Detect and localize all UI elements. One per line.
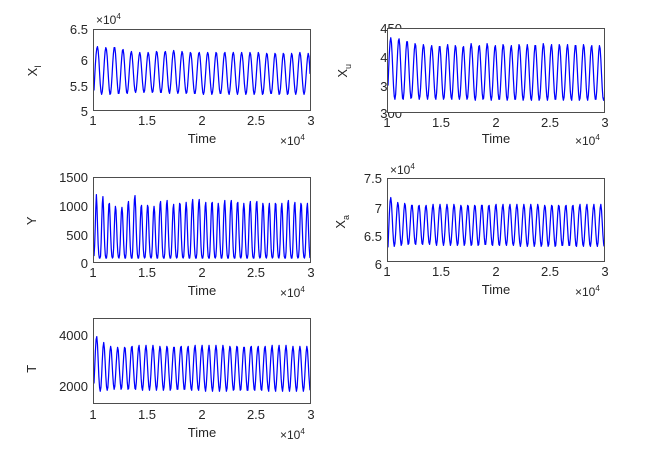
x-exponent-label-1: ×104 <box>280 133 305 148</box>
y-axis-label-subscript: a <box>341 215 351 220</box>
x-tick-label: 1.5 <box>427 115 455 130</box>
y-axis-label-main: X <box>333 220 348 229</box>
y-tick-label: 6 <box>48 53 88 68</box>
x-tick-label: 2 <box>482 264 510 279</box>
x-axis-label: Time <box>446 282 546 297</box>
x-tick-label: 1.5 <box>133 113 161 128</box>
x-axis-label: Time <box>152 131 252 146</box>
x-tick-label: 2 <box>482 115 510 130</box>
x-tick-label: 3 <box>297 407 325 422</box>
subplot-t: 4000 2000 T 1 1.5 2 2.5 3 Time ×104 <box>0 304 330 452</box>
x-exponent-label-3: ×104 <box>280 285 305 300</box>
x-tick-label: 3 <box>591 264 619 279</box>
subplot-x-u: 450 400 350 300 Xu 1 1.5 2 2.5 3 Time ×1… <box>330 0 656 152</box>
subplot-y: 1500 1000 500 0 Y 1 1.5 2 2.5 3 Time ×10… <box>0 152 330 304</box>
x-tick-label: 3 <box>297 265 325 280</box>
x-tick-label: 2.5 <box>536 264 564 279</box>
y-tick-label: 5.5 <box>48 79 88 94</box>
y-axis-label-subscript: I <box>33 65 43 68</box>
series-line-x-a <box>388 179 604 261</box>
x-axis-label: Time <box>152 425 252 440</box>
x-tick-label: 1 <box>79 407 107 422</box>
x-tick-label: 2 <box>188 407 216 422</box>
series-line-y <box>94 178 310 262</box>
x-exponent-label-2: ×104 <box>575 133 600 148</box>
x-tick-label: 3 <box>297 113 325 128</box>
x-tick-label: 2.5 <box>242 265 270 280</box>
x-tick-label: 1 <box>373 115 401 130</box>
y-axis-label-main: T <box>24 365 39 373</box>
x-exponent-label-5: ×104 <box>280 427 305 442</box>
y-tick-label: 4000 <box>32 328 88 343</box>
subplot-x-i: ×104 6.5 6 5.5 5 XI 1 1.5 2 2.5 3 Time ×… <box>0 0 330 152</box>
y-axis-label-x-u: Xu <box>335 51 353 91</box>
x-tick-label: 2 <box>188 113 216 128</box>
x-tick-label: 1 <box>79 113 107 128</box>
plot-area-y <box>93 177 311 263</box>
series-line-t <box>94 319 310 403</box>
x-tick-label: 1.5 <box>133 265 161 280</box>
x-tick-label: 3 <box>591 115 619 130</box>
y-axis-label-main: Y <box>24 216 39 225</box>
y-exponent-label-1: ×104 <box>96 12 121 27</box>
x-tick-label: 2.5 <box>242 113 270 128</box>
series-line-x-i <box>94 30 310 110</box>
subplot-x-a: ×104 7.5 7 6.5 6 Xa 1 1.5 2 2.5 3 Time ×… <box>330 152 656 304</box>
y-exponent-label-4: ×104 <box>390 162 415 177</box>
y-axis-label-x-i: XI <box>25 51 43 91</box>
x-tick-label: 2 <box>188 265 216 280</box>
series-line-x-u <box>388 29 604 112</box>
y-tick-label: 1500 <box>32 170 88 185</box>
plot-area-t <box>93 318 311 404</box>
plot-area-x-a <box>387 178 605 262</box>
x-tick-label: 2.5 <box>242 407 270 422</box>
y-tick-label: 7.5 <box>342 171 382 186</box>
matlab-figure: ×104 6.5 6 5.5 5 XI 1 1.5 2 2.5 3 Time ×… <box>0 0 656 452</box>
y-axis-label-main: X <box>335 69 350 78</box>
x-exponent-label-4: ×104 <box>575 284 600 299</box>
plot-area-x-i <box>93 29 311 111</box>
x-tick-label: 2.5 <box>536 115 564 130</box>
y-axis-label-main: X <box>25 68 40 77</box>
y-axis-label-t: T <box>24 349 42 389</box>
plot-area-x-u <box>387 28 605 113</box>
x-tick-label: 1.5 <box>133 407 161 422</box>
x-tick-label: 1.5 <box>427 264 455 279</box>
x-axis-label: Time <box>446 131 546 146</box>
y-axis-label-x-a: Xa <box>333 202 351 242</box>
y-axis-label-subscript: u <box>343 64 353 69</box>
x-axis-label: Time <box>152 283 252 298</box>
x-tick-label: 1 <box>373 264 401 279</box>
y-tick-label: 6.5 <box>48 22 88 37</box>
y-axis-label-y: Y <box>24 201 42 241</box>
x-tick-label: 1 <box>79 265 107 280</box>
